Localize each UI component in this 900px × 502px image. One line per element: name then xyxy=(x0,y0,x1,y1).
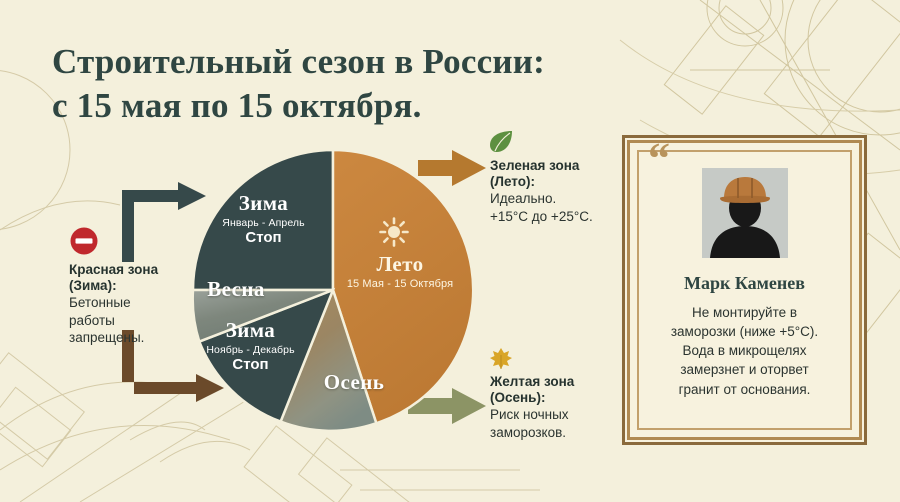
yellow-leaf-icon xyxy=(488,346,514,370)
expert-name: Марк Каменев xyxy=(630,273,859,294)
green-leaf-icon xyxy=(488,130,514,154)
expert-quote-text: Не монтируйте в заморозки (ниже +5°C). В… xyxy=(644,303,845,399)
quote-line-2: заморозки (ниже +5°C). xyxy=(644,322,845,341)
worker-silhouette-icon xyxy=(702,168,788,258)
callout-red-body-1: Бетонные xyxy=(69,294,193,311)
callout-red-body-3: запрещены. xyxy=(69,329,193,346)
callout-green-body-2: +15°C до +25°C. xyxy=(490,208,640,225)
callout-yellow-body-2: заморозков. xyxy=(490,424,640,441)
sun-icon xyxy=(378,216,410,248)
quote-line-3: Вода в микрощелях xyxy=(644,341,845,360)
quote-line-1: Не монтируйте в xyxy=(644,303,845,322)
pie-svg xyxy=(186,143,480,437)
no-entry-icon xyxy=(69,226,99,256)
quote-mark-icon: “ xyxy=(648,137,670,181)
quote-line-4: замерзнет и оторвет xyxy=(644,360,845,379)
callout-red-heading-2: (Зима): xyxy=(69,278,193,294)
callout-red-zone: Красная зона (Зима): Бетонные работы зап… xyxy=(69,262,193,346)
infographic-canvas: Строительный сезон в России: с 15 мая по… xyxy=(0,0,900,502)
callout-yellow-heading-1: Желтая зона xyxy=(490,374,640,390)
callout-yellow-zone: Желтая зона (Осень): Риск ночных замороз… xyxy=(490,374,640,441)
callout-green-body-1: Идеально. xyxy=(490,190,640,207)
season-pie-chart xyxy=(186,143,480,437)
callout-red-body-2: работы xyxy=(69,312,193,329)
avatar xyxy=(702,168,788,258)
callout-green-heading-2: (Лето): xyxy=(490,174,640,190)
quote-line-5: гранит от основания. xyxy=(644,380,845,399)
callout-yellow-heading-2: (Осень): xyxy=(490,390,640,406)
callout-red-heading-1: Красная зона xyxy=(69,262,193,278)
callout-green-heading-1: Зеленая зона xyxy=(490,158,640,174)
callout-yellow-body-1: Риск ночных xyxy=(490,406,640,423)
callout-green-zone: Зеленая зона (Лето): Идеально. +15°C до … xyxy=(490,158,640,225)
pie-slice-winter-1 xyxy=(193,150,333,290)
expert-quote-card: “ Марк Каменев Не монтируйте в заморозки… xyxy=(627,140,862,440)
